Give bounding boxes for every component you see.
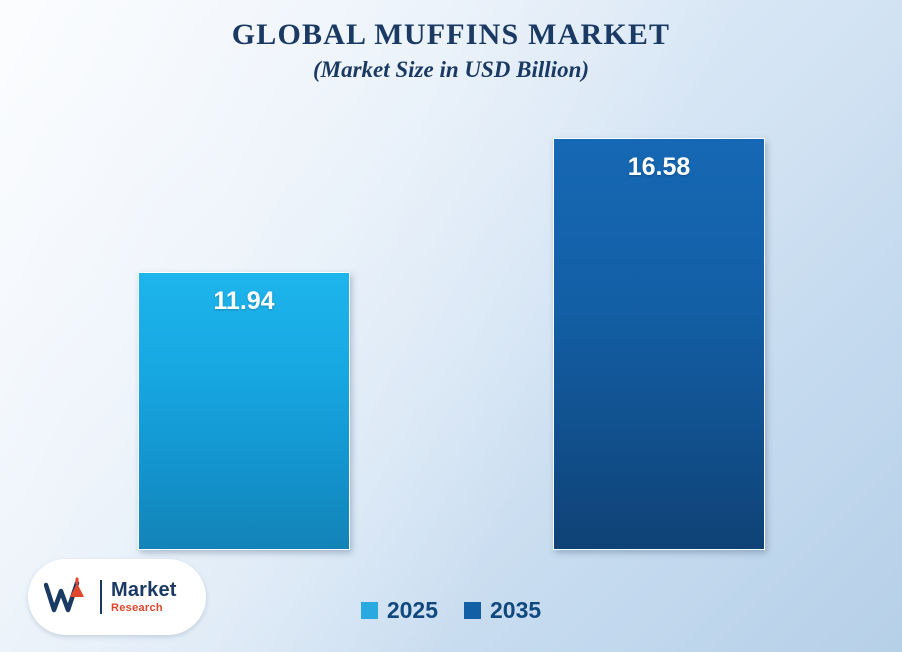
brand-logo[interactable]: Market Research	[28, 559, 206, 635]
legend-swatch-2035	[464, 602, 481, 619]
logo-text: Market Research	[111, 580, 177, 614]
logo-subtitle: Research	[111, 603, 177, 614]
we-logo-icon	[44, 577, 96, 617]
bar-value-2035: 16.58	[554, 153, 764, 182]
chart-subtitle: (Market Size in USD Billion)	[0, 57, 902, 83]
legend-swatch-2025	[361, 602, 378, 619]
logo-title: Market	[111, 580, 177, 600]
legend-label-2035: 2035	[490, 597, 541, 624]
plot-area: 11.94 16.58	[0, 130, 902, 550]
chart-title: GLOBAL MUFFINS MARKET	[0, 18, 902, 53]
bar-2035[interactable]: 16.58	[553, 138, 765, 550]
legend-item-2025[interactable]: 2025	[361, 597, 438, 624]
bar-2025[interactable]: 11.94	[138, 272, 350, 550]
legend-item-2035[interactable]: 2035	[464, 597, 541, 624]
logo-divider	[100, 580, 102, 614]
title-block: GLOBAL MUFFINS MARKET (Market Size in US…	[0, 18, 902, 83]
chart-canvas: GLOBAL MUFFINS MARKET (Market Size in US…	[0, 0, 902, 652]
bar-value-2025: 11.94	[139, 287, 349, 316]
legend-label-2025: 2025	[387, 597, 438, 624]
